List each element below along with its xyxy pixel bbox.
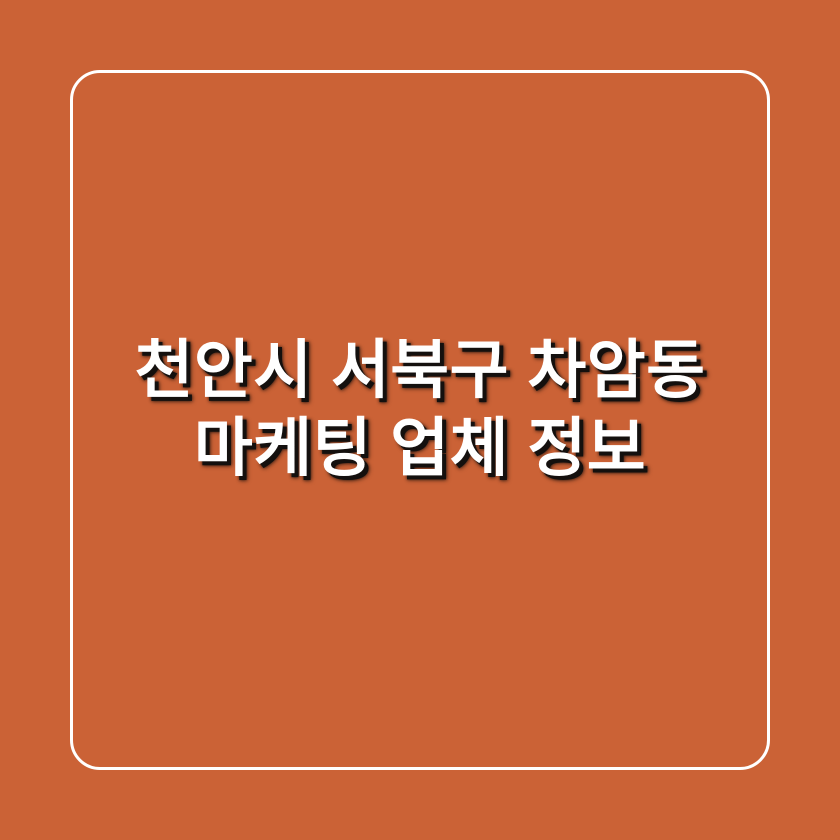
thumbnail-canvas: 천안시 서북구 차암동 마케팅 업체 정보 — [0, 0, 840, 840]
headline-line-1: 천안시 서북구 차암동 — [0, 331, 840, 409]
headline-line-2: 마케팅 업체 정보 — [0, 409, 840, 487]
headline-block: 천안시 서북구 차암동 마케팅 업체 정보 — [0, 0, 840, 840]
